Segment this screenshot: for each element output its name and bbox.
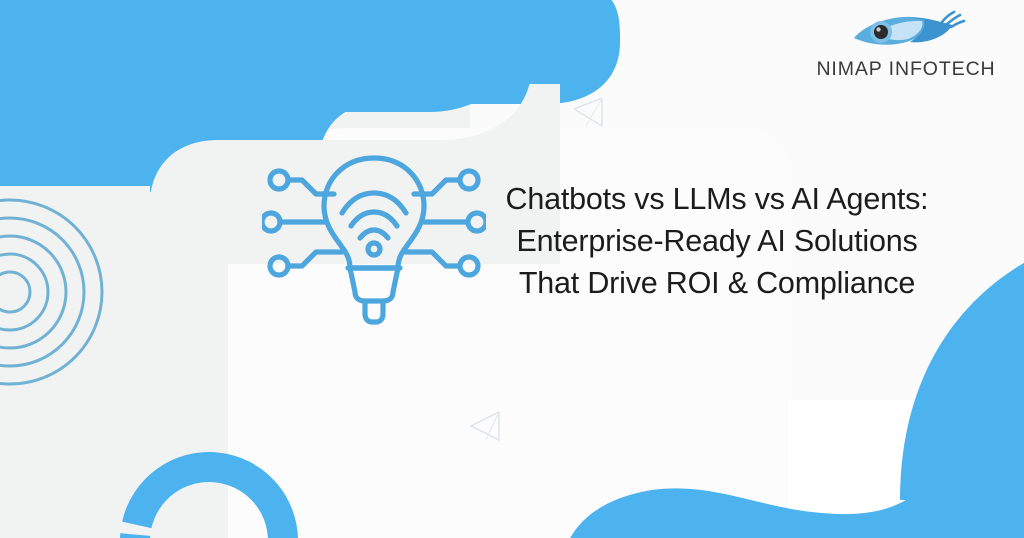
triangle-outline-bottom <box>466 406 506 446</box>
headline-line-2: Enterprise-Ready AI Solutions <box>478 220 956 262</box>
brand-logo: NIMAP INFOTECH <box>810 8 1002 81</box>
headline-title: Chatbots vs LLMs vs AI Agents: Enterpris… <box>478 178 956 304</box>
headline-line-1: Chatbots vs LLMs vs AI Agents: <box>478 178 956 220</box>
blue-donut-arc-decoration <box>120 452 298 538</box>
headline-line-3: That Drive ROI & Compliance <box>478 262 956 304</box>
blog-banner: NIMAP INFOTECH Chatbots vs LLMs vs AI Ag… <box>0 0 1024 538</box>
small-blue-dot <box>224 78 252 106</box>
ai-lightbulb-circuit-icon <box>262 146 486 330</box>
concentric-rings-decoration <box>0 196 106 388</box>
eye-logo-icon <box>846 8 966 56</box>
logo-wordmark: NIMAP INFOTECH <box>810 58 1002 81</box>
triangle-outline-top <box>568 92 608 132</box>
